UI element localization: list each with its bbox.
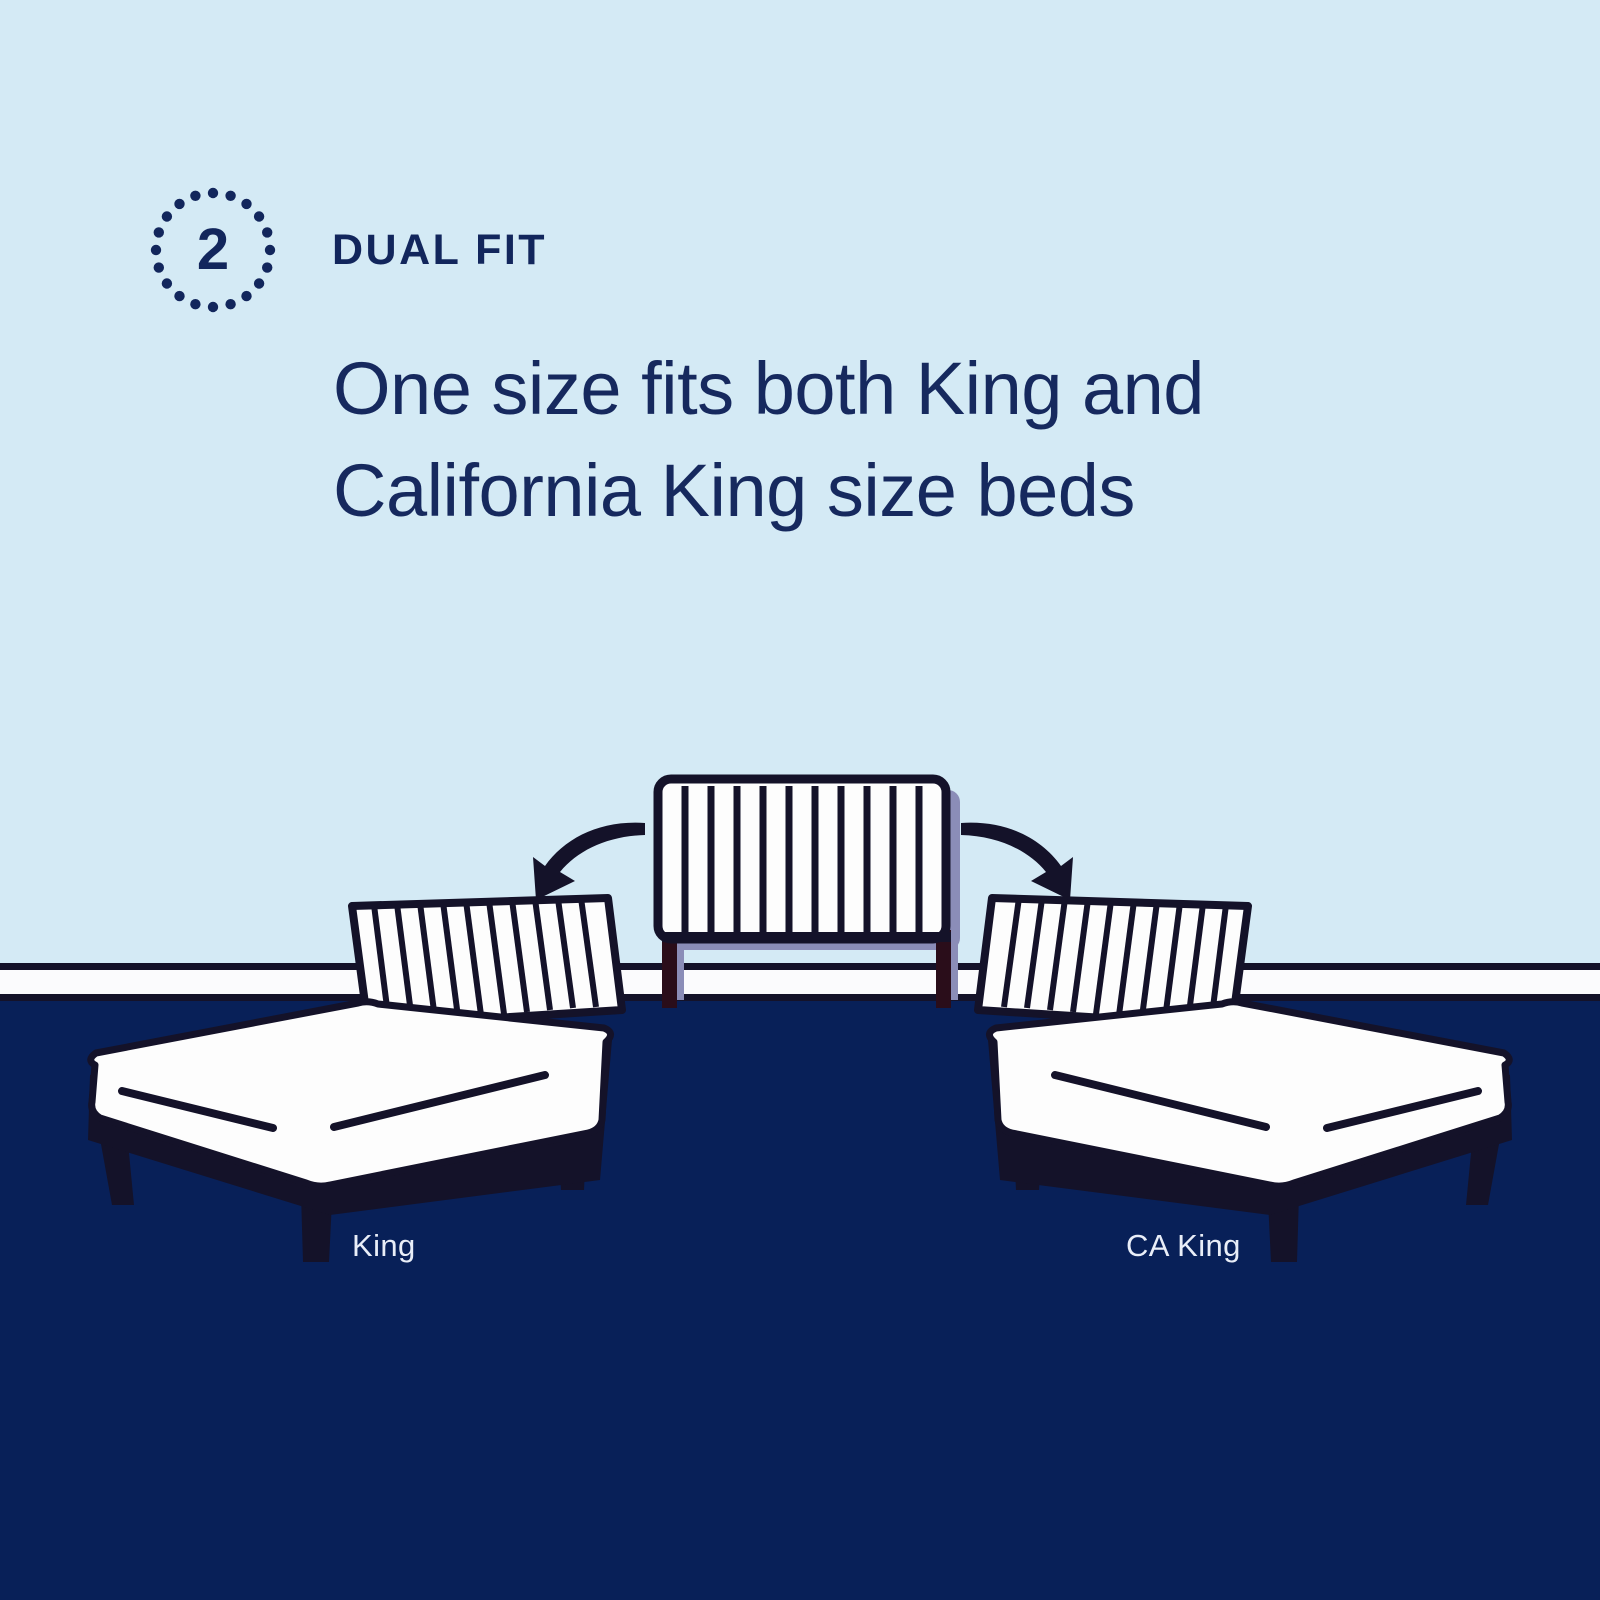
bed-label-ca-king: CA King: [1126, 1228, 1241, 1264]
room-illustration: [0, 0, 1600, 1600]
headboard-leg-right-shadow: [951, 930, 958, 1000]
headboard-panel: [658, 779, 946, 939]
baseboard-top-line: [0, 963, 1600, 970]
baseboard: [0, 970, 1600, 994]
infographic-slide: 2 DUAL FIT One size fits both King and C…: [0, 0, 1600, 1600]
bed-label-king: King: [352, 1228, 416, 1264]
baseboard-bottom-line: [0, 994, 1600, 1001]
headboard-rail: [662, 932, 951, 942]
